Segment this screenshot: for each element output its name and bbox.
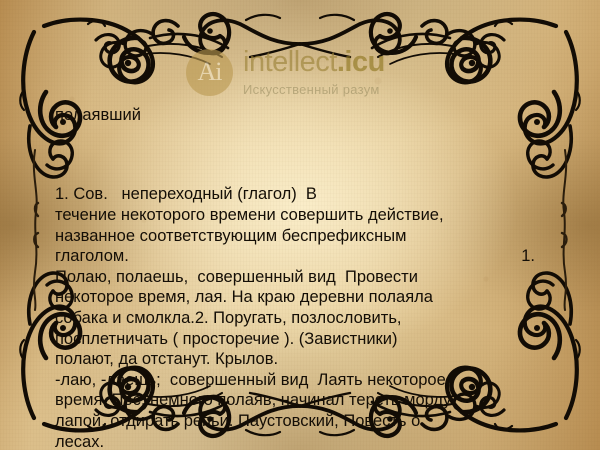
definition-line: посплетничать ( просторечие ). (Завистни… bbox=[55, 329, 535, 350]
top-flourish-left bbox=[101, 14, 300, 67]
definition-line: течение некоторого времени совершить дей… bbox=[55, 205, 535, 226]
definition-line: лапой, отдирать репьи. Паустовский, Пове… bbox=[55, 411, 535, 432]
left-edge-wave-rule bbox=[34, 150, 37, 310]
dictionary-entry-page: Ai intellect.icu Искусственный разум пол… bbox=[0, 0, 600, 450]
definition-line: 1.глаголом. bbox=[55, 246, 535, 267]
definition-line: названное соответствующим беспрефиксным bbox=[55, 226, 535, 247]
top-flourish-right bbox=[300, 14, 499, 67]
definition-line: -лаю, -лаешь; совершенный вид Лаять неко… bbox=[55, 370, 535, 391]
definition-line: некоторое время, лая. На краю деревни по… bbox=[55, 287, 535, 308]
headword: полаявший bbox=[55, 105, 535, 125]
definition-line: Полаю, полаешь, совершенный вид Провести bbox=[55, 267, 535, 288]
definition-body: 1. Сов. непереходный (глагол) Втечение н… bbox=[55, 184, 535, 450]
dictionary-article: полаявший 1. Сов. непереходный (глагол) … bbox=[55, 64, 535, 450]
definition-line: полают, да отстанут. Крылов. bbox=[55, 349, 535, 370]
right-edge-wave-rule bbox=[563, 150, 566, 310]
definition-line: 1. Сов. непереходный (глагол) В bbox=[55, 184, 535, 205]
definition-line: собака и смолкла.2. Поругать, позлослови… bbox=[55, 308, 535, 329]
sense-number-marker: 1. bbox=[521, 246, 535, 267]
definition-line: время. Пес, немного полаяв, начинал тере… bbox=[55, 390, 535, 411]
definition-line: лесах. bbox=[55, 432, 535, 450]
